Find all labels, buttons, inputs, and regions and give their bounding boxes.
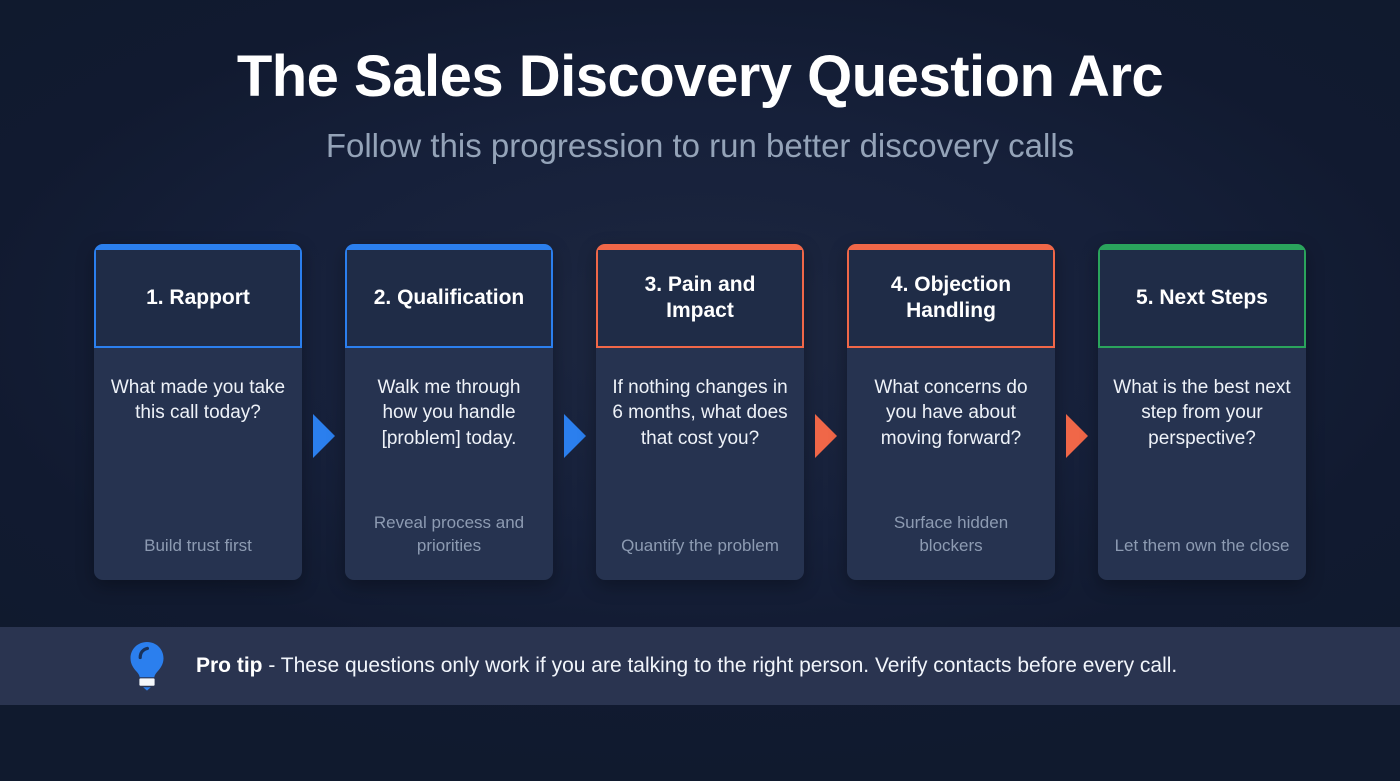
stage-title: 4. Objection Handling <box>859 272 1043 325</box>
stage-header: 5. Next Steps <box>1098 250 1306 348</box>
stage-title: 1. Rapport <box>146 285 250 311</box>
stage-card[interactable]: 5. Next StepsWhat is the best next step … <box>1098 244 1306 580</box>
stage-card[interactable]: 4. Objection HandlingWhat concerns do yo… <box>847 244 1055 580</box>
stage-body: If nothing changes in 6 months, what doe… <box>596 348 804 580</box>
stage-arrow-icon <box>804 414 847 458</box>
page-subtitle: Follow this progression to run better di… <box>0 128 1400 164</box>
stage-body: What made you take this call today?Build… <box>94 348 302 580</box>
pro-tip-text: Pro tip - These questions only work if y… <box>196 653 1177 678</box>
lightbulb-icon <box>126 640 168 692</box>
stage-note: Build trust first <box>108 535 288 558</box>
stage-header: 4. Objection Handling <box>847 250 1055 348</box>
stage-card[interactable]: 3. Pain and ImpactIf nothing changes in … <box>596 244 804 580</box>
stage-question: What concerns do you have about moving f… <box>861 375 1041 451</box>
page-header: The Sales Discovery Question Arc Follow … <box>0 0 1400 164</box>
stage-header: 1. Rapport <box>94 250 302 348</box>
stage-arrow-icon <box>302 414 345 458</box>
stage-question: What is the best next step from your per… <box>1112 375 1292 451</box>
stage-body: Walk me through how you handle [problem]… <box>345 348 553 580</box>
stage-question: If nothing changes in 6 months, what doe… <box>610 375 790 451</box>
stage-note: Let them own the close <box>1112 535 1292 558</box>
stage-card[interactable]: 1. RapportWhat made you take this call t… <box>94 244 302 580</box>
stage-header: 3. Pain and Impact <box>596 250 804 348</box>
pro-tip-body: These questions only work if you are tal… <box>281 654 1177 677</box>
stage-note: Quantify the problem <box>610 535 790 558</box>
stage-note: Surface hidden blockers <box>861 512 1041 558</box>
pro-tip-label: Pro tip <box>196 654 263 677</box>
stage-header: 2. Qualification <box>345 250 553 348</box>
stage-body: What concerns do you have about moving f… <box>847 348 1055 580</box>
stage-list: 1. RapportWhat made you take this call t… <box>0 244 1400 580</box>
stage-title: 3. Pain and Impact <box>608 272 792 325</box>
stage-body: What is the best next step from your per… <box>1098 348 1306 580</box>
pro-tip-separator: - <box>263 654 281 677</box>
stage-arrow-icon <box>553 414 596 458</box>
stage-card[interactable]: 2. QualificationWalk me through how you … <box>345 244 553 580</box>
stage-title: 5. Next Steps <box>1136 285 1268 311</box>
pro-tip-bar: Pro tip - These questions only work if y… <box>0 627 1400 705</box>
stage-question: Walk me through how you handle [problem]… <box>359 375 539 451</box>
page-title: The Sales Discovery Question Arc <box>0 47 1400 108</box>
stage-title: 2. Qualification <box>374 285 525 311</box>
stage-arrow-icon <box>1055 414 1098 458</box>
stage-question: What made you take this call today? <box>108 375 288 426</box>
stage-note: Reveal process and priorities <box>359 512 539 558</box>
